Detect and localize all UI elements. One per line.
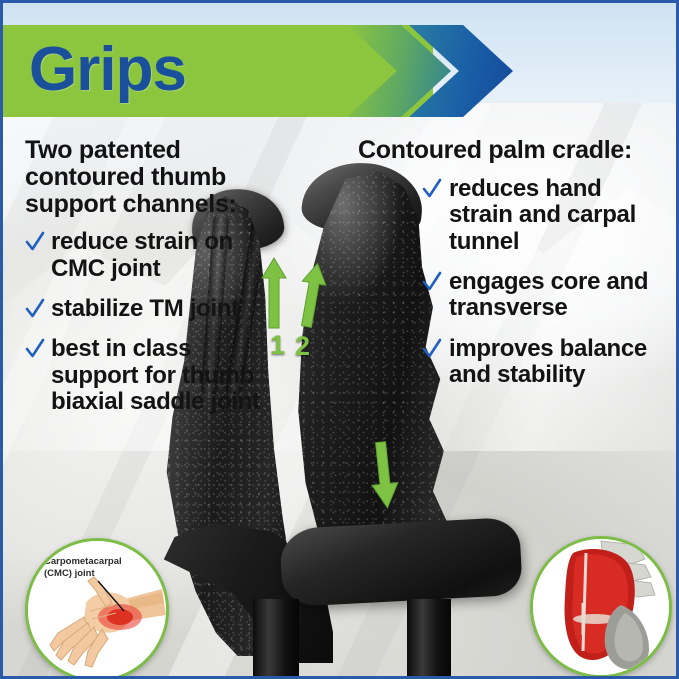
list-item: reduces hand strain and carpal tunnel [422,176,664,255]
channel-2-arrow-up-icon [299,261,325,329]
trekking-pole-shaft-left [253,599,299,679]
cmc-joint-inset: Carpometacarpal (CMC) joint [25,538,169,679]
channel-number-1: 1 [270,332,285,359]
check-icon [422,337,442,361]
list-item-label: reduce strain on CMC joint [51,228,233,281]
left-feature-column: Two patented contoured thumb support cha… [25,137,275,430]
list-item-label: reduces hand strain and carpal tunnel [449,175,636,255]
core-muscles-inset [530,536,672,678]
channel-number-2: 2 [295,333,310,360]
page-title: Grips [29,39,186,101]
list-item-label: improves balance and stability [449,335,647,388]
check-icon [25,230,45,254]
right-grip-bottom-flange [279,517,523,607]
core-transverse-muscle-illustration [533,539,669,675]
right-column-heading: Contoured palm cradle: [358,137,664,164]
left-bullet-list: reduce strain on CMC joint stabilize TM … [25,229,275,415]
list-item: best in class support for thumb biaxial … [25,336,275,415]
left-column-heading: Two patented contoured thumb support cha… [25,137,275,217]
list-item-label: engages core and transverse [449,268,648,321]
channel-1-arrow-up-icon [261,256,287,330]
trekking-pole-shaft-right [407,599,451,679]
chevron-group [285,25,585,117]
check-icon [25,337,45,361]
list-item-label: stabilize TM joint [51,295,239,322]
palm-cradle-arrow-down-icon [369,440,399,510]
grips-infographic: Grips Two patented contoured thumb suppo… [0,0,679,679]
cmc-label-line-1: Carpometacarpal [44,556,122,568]
cmc-label-line-2: (CMC) joint [44,568,122,580]
check-icon [25,297,45,321]
cmc-joint-label: Carpometacarpal (CMC) joint [44,556,122,580]
right-bullet-list: reduces hand strain and carpal tunnel en… [422,176,664,389]
check-icon [422,270,442,294]
list-item-label: best in class support for thumb biaxial … [51,335,260,415]
right-feature-column: Contoured palm cradle: reduces hand stra… [358,137,664,402]
check-icon [422,177,442,201]
list-item: engages core and transverse [422,269,664,322]
list-item: stabilize TM joint [25,296,275,322]
list-item: reduce strain on CMC joint [25,229,275,282]
list-item: improves balance and stability [422,336,664,389]
